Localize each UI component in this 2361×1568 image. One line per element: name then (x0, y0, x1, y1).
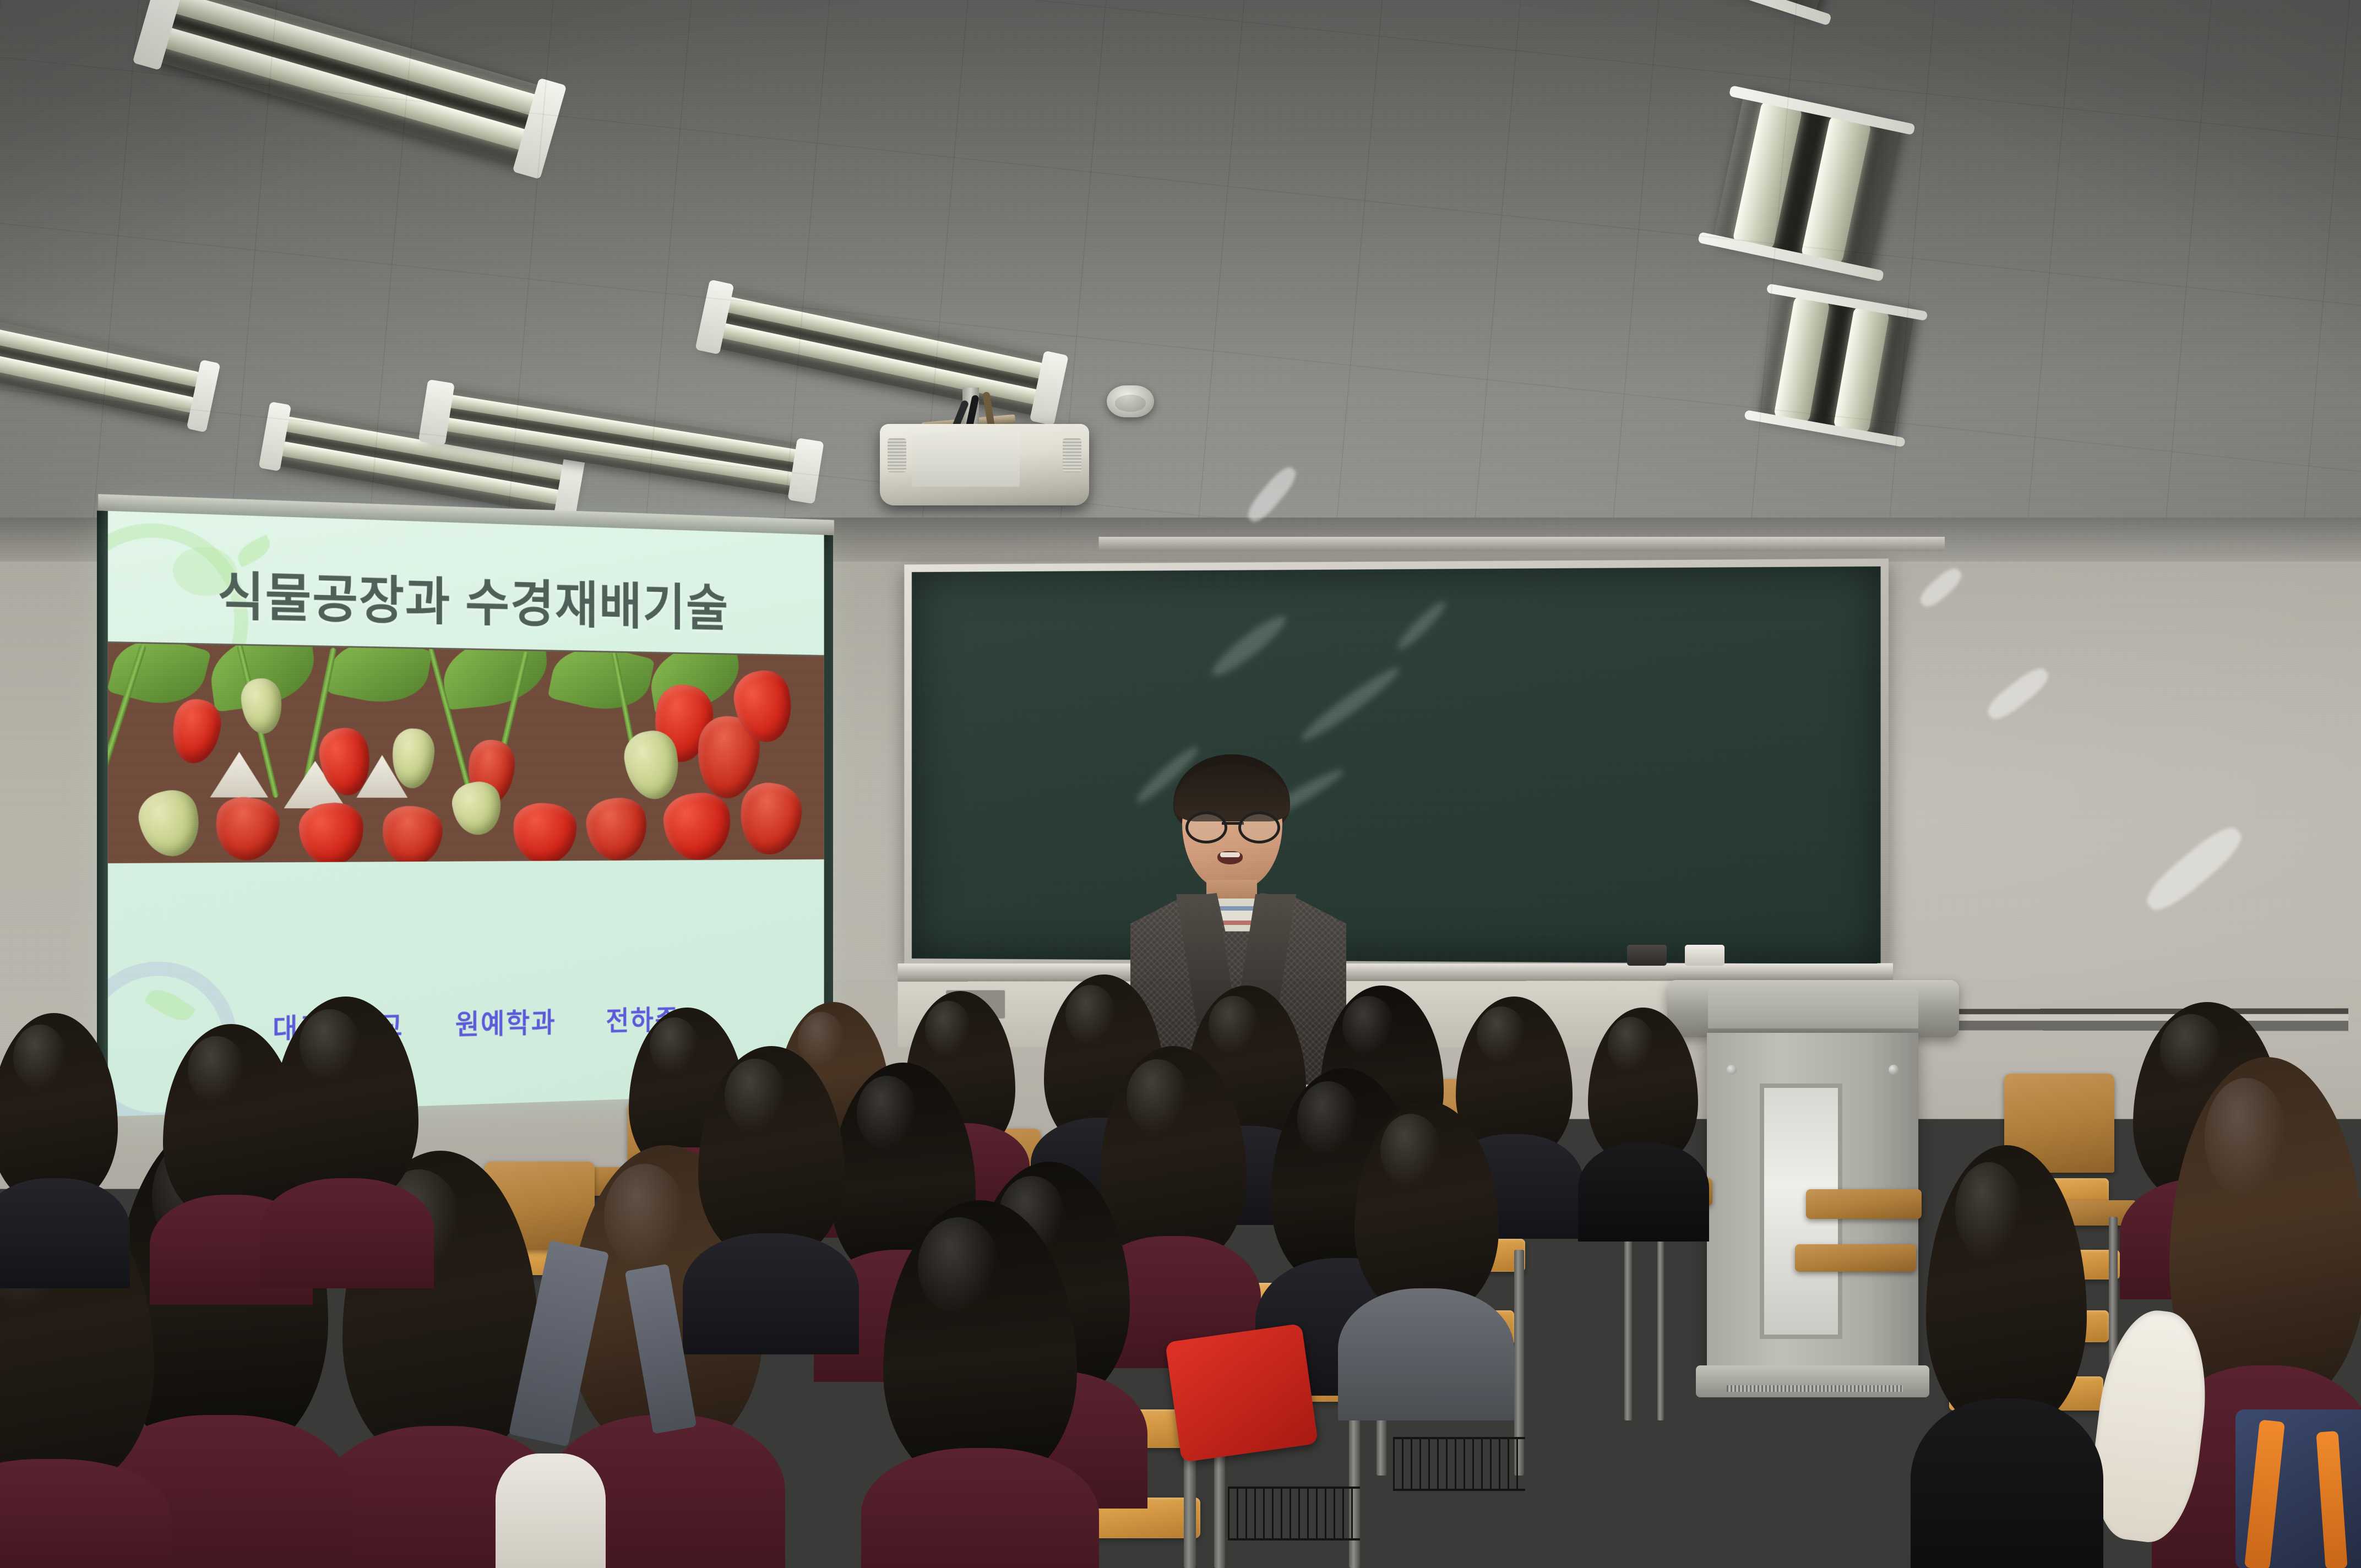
audience-person (1443, 1200, 1624, 1568)
ceiling-light-fixture (1641, 0, 1865, 18)
ceiling (0, 0, 2361, 556)
audience-white-sleeve (496, 1453, 606, 1568)
lectern-base (1696, 1365, 1929, 1397)
ceiling-light-fixture (427, 385, 815, 498)
lecture-hall-photo: 식물공장과 수경재배기술 (0, 0, 2361, 1568)
backpack-red (1165, 1324, 1318, 1463)
ceiling-light-fixture (703, 286, 1060, 419)
ceiling-light-fixture (1756, 288, 1915, 443)
seat (1795, 1244, 1916, 1272)
eraser-dark (1627, 945, 1667, 966)
ceiling-shading (0, 0, 2361, 556)
ceiling-projector (880, 424, 1089, 505)
chalkboard-surface (912, 567, 1881, 964)
chalkboard (904, 558, 1889, 972)
ceiling-light-fixture (0, 308, 214, 426)
presenter-mouth (1217, 851, 1243, 864)
slide-title: 식물공장과 수경재배기술 (108, 551, 824, 642)
audience-person (870, 1200, 1090, 1568)
chalkboard-track (1098, 537, 1945, 551)
audience-person (1916, 1145, 2098, 1568)
audience-person (0, 1013, 127, 1277)
eraser-light (1685, 945, 1724, 966)
ceiling-light-fixture (265, 407, 579, 518)
slide-footer-department: 원예학과 (455, 1008, 557, 1041)
seat (1806, 1189, 1922, 1219)
smoke-detector-icon (1107, 385, 1154, 417)
ceiling-light-fixture (143, 0, 557, 170)
lectern-top (1667, 980, 1959, 1037)
ceiling-light-fixture (1712, 91, 1901, 275)
audience-person (264, 997, 429, 1283)
audience-person (688, 1046, 853, 1343)
slide-image-strawberries (108, 641, 824, 863)
glasses-icon (1185, 812, 1280, 838)
audience-person (1580, 1008, 1707, 1233)
